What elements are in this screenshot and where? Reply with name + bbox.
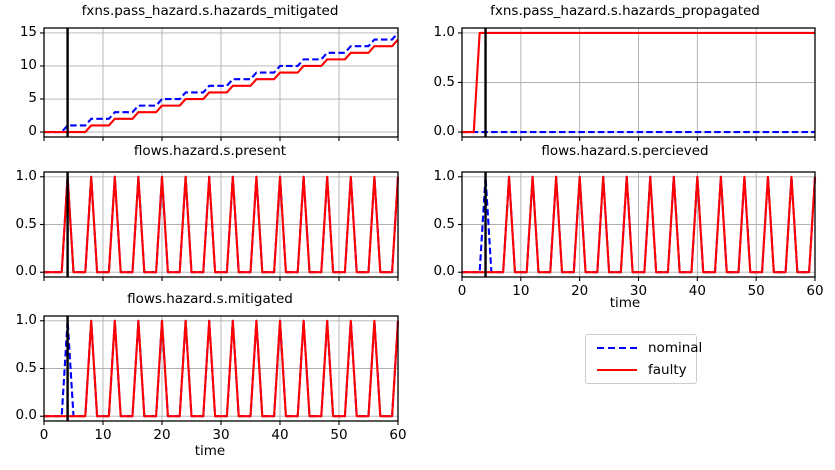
x-tick-label: 60 xyxy=(378,427,418,443)
legend-swatch-nominal xyxy=(595,342,639,354)
x-tick-label: 30 xyxy=(201,427,241,443)
y-tick-label: 1.0 xyxy=(0,312,37,328)
figure-canvas: fxns.pass_hazard.s.hazards_mitigated 051… xyxy=(0,0,835,470)
y-tick-label: 0.0 xyxy=(0,407,37,423)
legend-item-faulty: faulty xyxy=(586,359,696,381)
y-tick-label: 1.0 xyxy=(415,24,455,40)
y-tick-label: 0.5 xyxy=(415,216,455,232)
plot-area xyxy=(0,0,420,152)
plot-svg xyxy=(0,140,420,292)
x-tick-label: 20 xyxy=(560,283,600,299)
y-tick-label: 0.0 xyxy=(0,263,37,279)
legend-item-nominal: nominal xyxy=(586,337,696,359)
plot-svg xyxy=(415,0,835,152)
legend-label: nominal xyxy=(648,340,702,356)
x-tick-label: 0 xyxy=(442,283,482,299)
x-tick-label: 50 xyxy=(736,283,776,299)
x-tick-label: 50 xyxy=(319,427,359,443)
y-tick-label: 0.0 xyxy=(415,263,455,279)
x-tick-label: 30 xyxy=(619,283,659,299)
x-axis-label: time xyxy=(0,443,420,459)
x-tick-label: 10 xyxy=(501,283,541,299)
y-tick-label: 1.0 xyxy=(0,168,37,184)
y-tick-label: 1.0 xyxy=(415,168,455,184)
plot-svg xyxy=(0,0,420,152)
subplot-hazards-propagated: fxns.pass_hazard.s.hazards_propagated 0.… xyxy=(415,0,835,152)
plot-area xyxy=(415,0,835,152)
y-tick-label: 0.0 xyxy=(415,123,455,139)
subplot-hazard-mitigated: flows.hazard.s.mitigated time 0.00.51.00… xyxy=(0,288,420,470)
x-tick-label: 60 xyxy=(795,283,835,299)
x-tick-label: 40 xyxy=(260,427,300,443)
y-tick-label: 0.5 xyxy=(0,360,37,376)
x-tick-label: 10 xyxy=(83,427,123,443)
legend: nominal faulty xyxy=(585,334,697,384)
y-tick-label: 10 xyxy=(0,57,37,73)
y-tick-label: 0.5 xyxy=(0,216,37,232)
x-tick-label: 20 xyxy=(142,427,182,443)
legend-label: faulty xyxy=(648,362,687,378)
y-tick-label: 0.5 xyxy=(415,74,455,90)
y-tick-label: 0 xyxy=(0,123,37,139)
subplot-hazards-mitigated: fxns.pass_hazard.s.hazards_mitigated 051… xyxy=(0,0,420,152)
subplot-hazard-present: flows.hazard.s.present 0.00.51.0 xyxy=(0,140,420,292)
y-tick-label: 15 xyxy=(0,24,37,40)
x-tick-label: 0 xyxy=(24,427,64,443)
subplot-hazard-percieved: flows.hazard.s.percieved time 0.00.51.00… xyxy=(415,140,835,320)
x-tick-label: 40 xyxy=(677,283,717,299)
plot-area xyxy=(0,140,420,292)
y-tick-label: 5 xyxy=(0,90,37,106)
legend-swatch-faulty xyxy=(595,364,639,376)
